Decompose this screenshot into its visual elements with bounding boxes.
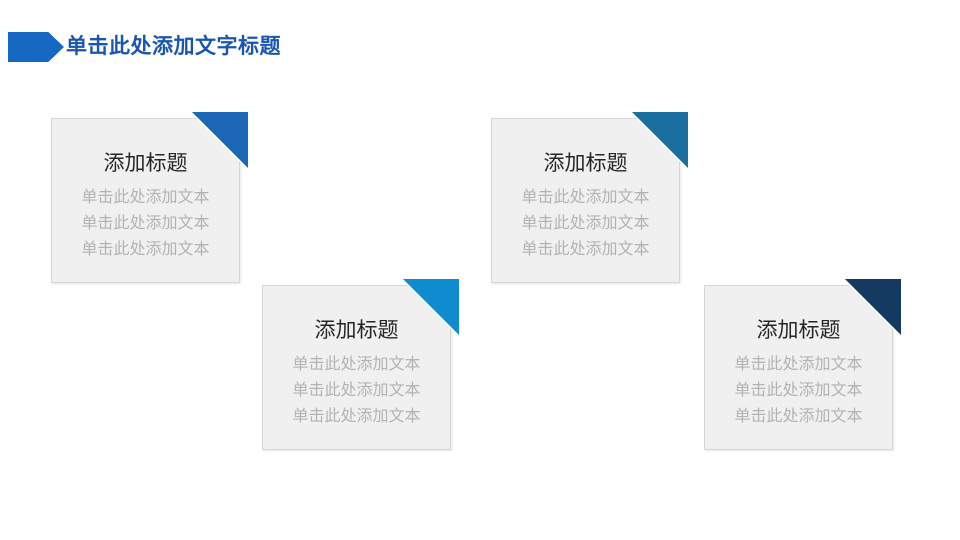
card-title: 添加标题	[263, 314, 450, 344]
card-title: 添加标题	[705, 314, 892, 344]
content-card[interactable]: 添加标题单击此处添加文本单击此处添加文本单击此处添加文本	[262, 285, 451, 450]
card-body-line: 单击此处添加文本	[705, 378, 892, 404]
card-body: 单击此处添加文本单击此处添加文本单击此处添加文本	[492, 185, 679, 263]
card-body-line: 单击此处添加文本	[263, 378, 450, 404]
card-body: 单击此处添加文本单击此处添加文本单击此处添加文本	[263, 352, 450, 430]
card-body-line: 单击此处添加文本	[52, 237, 239, 263]
card-body-line: 单击此处添加文本	[705, 352, 892, 378]
slide-canvas: 单击此处添加文字标题 添加标题单击此处添加文本单击此处添加文本单击此处添加文本添…	[0, 0, 960, 540]
content-card[interactable]: 添加标题单击此处添加文本单击此处添加文本单击此处添加文本	[51, 118, 240, 283]
card-body-line: 单击此处添加文本	[263, 404, 450, 430]
card-body-line: 单击此处添加文本	[705, 404, 892, 430]
card-body-line: 单击此处添加文本	[52, 185, 239, 211]
card-body: 单击此处添加文本单击此处添加文本单击此处添加文本	[705, 352, 892, 430]
card-title: 添加标题	[52, 147, 239, 177]
card-title: 添加标题	[492, 147, 679, 177]
card-body-line: 单击此处添加文本	[492, 237, 679, 263]
card-body-line: 单击此处添加文本	[52, 211, 239, 237]
slide-header: 单击此处添加文字标题	[0, 28, 960, 68]
card-body: 单击此处添加文本单击此处添加文本单击此处添加文本	[52, 185, 239, 263]
header-arrow-icon	[8, 32, 64, 62]
card-body-line: 单击此处添加文本	[492, 211, 679, 237]
page-title: 单击此处添加文字标题	[66, 28, 281, 66]
card-body-line: 单击此处添加文本	[492, 185, 679, 211]
content-card[interactable]: 添加标题单击此处添加文本单击此处添加文本单击此处添加文本	[704, 285, 893, 450]
card-body-line: 单击此处添加文本	[263, 352, 450, 378]
content-card[interactable]: 添加标题单击此处添加文本单击此处添加文本单击此处添加文本	[491, 118, 680, 283]
